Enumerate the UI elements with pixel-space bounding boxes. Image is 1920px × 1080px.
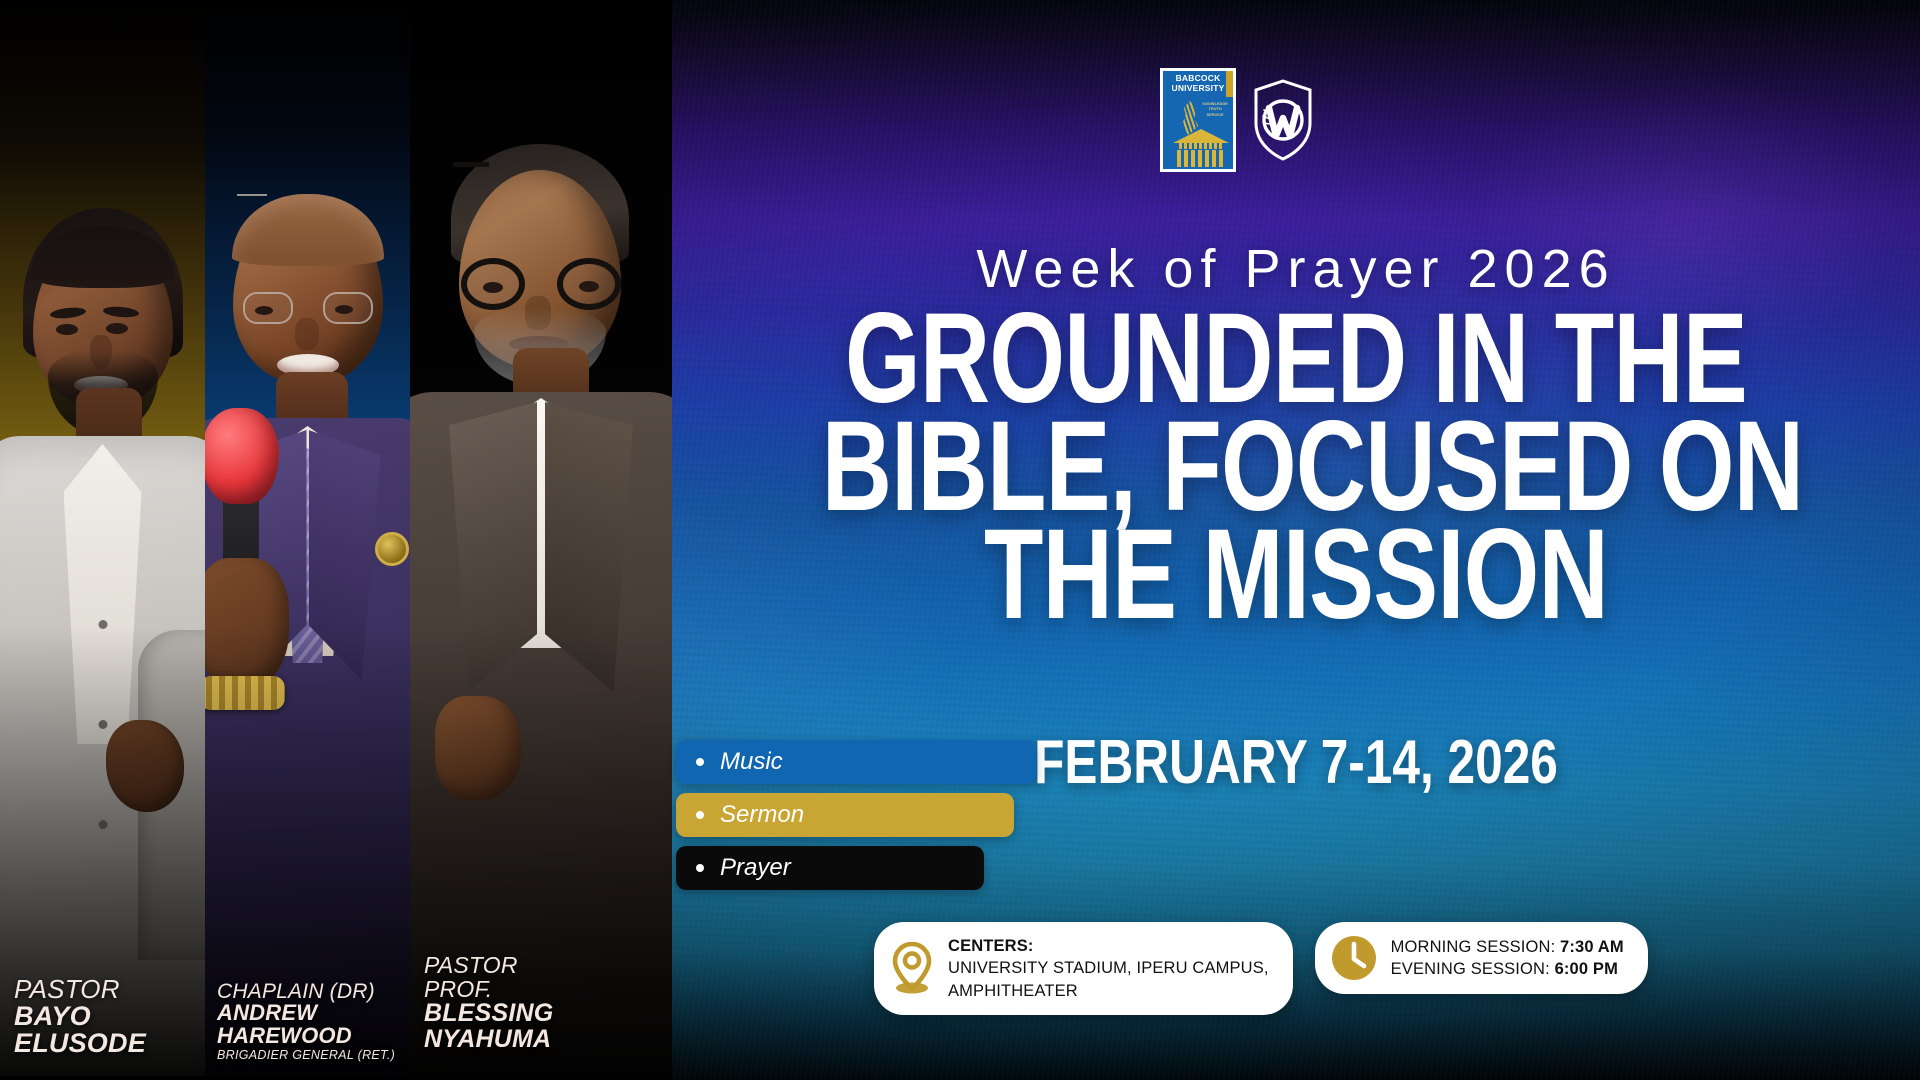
portrait-hand [106, 720, 184, 812]
clock-icon [1331, 935, 1377, 981]
w-shield-logo-icon [1252, 78, 1314, 162]
babcock-university-logo-icon: BABCOCK UNIVERSITY KNOWLEDGE TRUTH SERVI… [1160, 68, 1236, 172]
venue-label: CENTERS: [948, 935, 1269, 957]
program-pill-label: Prayer [720, 854, 791, 882]
bullet-icon [696, 811, 704, 819]
logo-university-name: BABCOCK UNIVERSITY [1163, 71, 1233, 93]
portrait-shirt-button [98, 720, 107, 729]
speaker-name-line2: NYAHUMA [424, 1027, 672, 1053]
event-headline: GROUNDED IN THE BIBLE, FOCUSED ON THE MI… [822, 305, 1770, 629]
speaker-photo-panel-2 [205, 0, 410, 1080]
logo-temple-frieze [1179, 143, 1223, 149]
microphone-icon [205, 408, 279, 504]
logo-inner-field: BABCOCK UNIVERSITY KNOWLEDGE TRUTH SERVI… [1163, 71, 1233, 169]
evening-session-row: EVENING SESSION: 6:00 PM [1391, 958, 1624, 980]
venue-line-1: UNIVERSITY STADIUM, IPERU CAMPUS, [948, 957, 1269, 979]
speaker-name-block-1: PASTOR BAYO ELUSODE [0, 920, 205, 1080]
speaker-name-line2: ELUSODE [14, 1030, 205, 1058]
portrait-eye-left [56, 324, 78, 335]
speaker-photo-strip [0, 0, 672, 1080]
logo-temple-icon [1173, 127, 1229, 167]
logo-temple-columns [1177, 150, 1225, 167]
portrait-hand [205, 558, 289, 688]
portrait-nose [295, 318, 319, 350]
speaker-name-line1: BLESSING [424, 1001, 672, 1027]
bullet-icon [696, 758, 704, 766]
session-time-text: MORNING SESSION: 7:30 AM EVENING SESSION… [1391, 936, 1624, 981]
portrait-wristwatch [205, 676, 285, 710]
evening-session-time: 6:00 PM [1555, 960, 1618, 978]
program-pill-prayer[interactable]: Prayer [676, 846, 984, 890]
portrait-scalp [232, 194, 384, 266]
portrait-eye-right [335, 305, 353, 314]
speaker-name-line2: HAREWOOD [217, 1025, 410, 1047]
program-element-list: Music Sermon Prayer [676, 740, 1036, 890]
speaker-name-line1: BAYO [14, 1003, 205, 1031]
venue-line-2: AMPHITHEATER [948, 980, 1269, 1002]
speaker-title-line2: PROF. [424, 978, 672, 1001]
logo-motto: KNOWLEDGE TRUTH SERVICE [1202, 102, 1228, 118]
program-pill-sermon[interactable]: Sermon [676, 793, 1014, 837]
morning-session-time: 7:30 AM [1560, 938, 1624, 956]
info-card-row: CENTERS: UNIVERSITY STADIUM, IPERU CAMPU… [874, 922, 1648, 1015]
logo-temple-roof [1173, 129, 1229, 143]
speaker-photo-panel-1 [0, 0, 205, 1080]
speaker-title: PASTOR [14, 976, 205, 1003]
logo-motto-line3: SERVICE [1202, 113, 1228, 118]
portrait-shirt [64, 444, 142, 744]
event-poster: PASTOR BAYO ELUSODE CHAPLAIN (DR) ANDREW… [0, 0, 1920, 1080]
session-time-card: MORNING SESSION: 7:30 AM EVENING SESSION… [1315, 922, 1648, 994]
portrait-eye-right [106, 323, 128, 334]
portrait-eye-right [579, 281, 599, 292]
speaker-name-line1: ANDREW [217, 1002, 410, 1024]
speaker-name-block-2: CHAPLAIN (DR) ANDREW HAREWOOD BRIGADIER … [205, 920, 410, 1080]
program-pill-label: Music [720, 748, 783, 776]
logo-gold-bar [1226, 71, 1233, 97]
speaker-title-line1: PASTOR [424, 954, 672, 977]
portrait-hand [435, 696, 521, 800]
speaker-photo-panel-3 [410, 0, 672, 1080]
portrait-shirt-button [98, 620, 107, 629]
logo-row: BABCOCK UNIVERSITY KNOWLEDGE TRUTH SERVI… [1160, 68, 1314, 172]
speaker-subtitle: BRIGADIER GENERAL (RET.) [217, 1049, 410, 1062]
portrait-shirt-button [98, 820, 107, 829]
venue-info-text: CENTERS: UNIVERSITY STADIUM, IPERU CAMPU… [948, 935, 1269, 1002]
eyeglass-bridge [453, 162, 489, 167]
portrait-eye-left [255, 306, 273, 315]
location-pin-icon [890, 942, 934, 994]
morning-session-row: MORNING SESSION: 7:30 AM [1391, 936, 1624, 958]
portrait-eye-left [483, 282, 503, 293]
eyeglass-bridge [237, 194, 267, 196]
morning-session-label: MORNING SESSION: [1391, 938, 1556, 956]
bullet-icon [696, 864, 704, 872]
logo-name-line2: UNIVERSITY [1163, 84, 1233, 94]
speaker-name-block-3: PASTOR PROF. BLESSING NYAHUMA [410, 920, 672, 1080]
portrait-lapel-pin [375, 532, 409, 566]
program-pill-music[interactable]: Music [676, 740, 1036, 784]
venue-info-card: CENTERS: UNIVERSITY STADIUM, IPERU CAMPU… [874, 922, 1293, 1015]
speaker-names: PASTOR BAYO ELUSODE CHAPLAIN (DR) ANDREW… [0, 920, 672, 1080]
program-pill-label: Sermon [720, 801, 804, 829]
evening-session-label: EVENING SESSION: [1391, 960, 1550, 978]
